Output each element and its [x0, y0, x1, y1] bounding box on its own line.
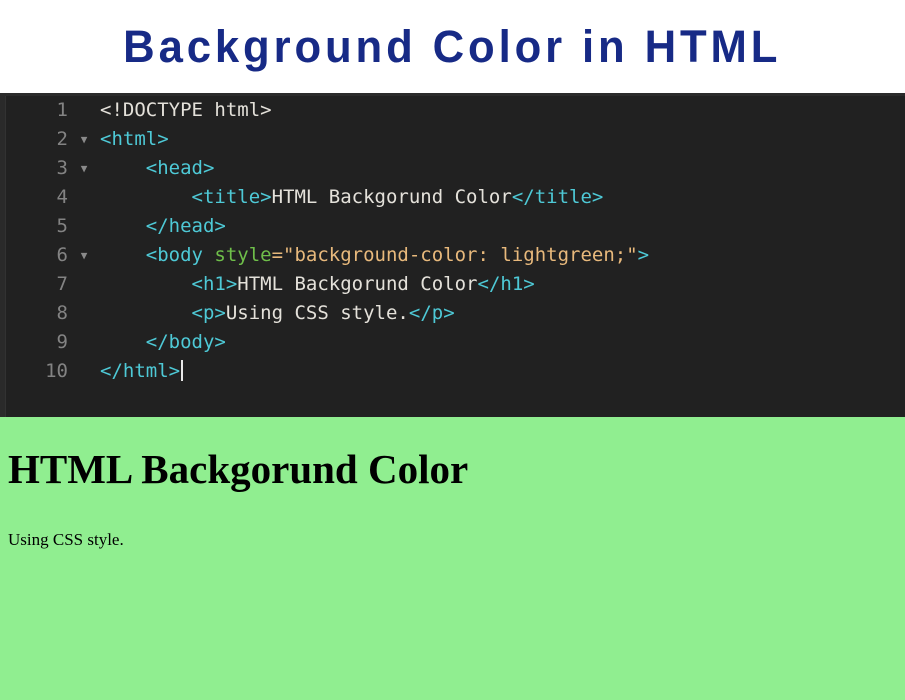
line-number: 10 [0, 357, 68, 386]
code-token-tag: > [638, 244, 649, 266]
code-line-text: <h1>HTML Backgorund Color</h1> [100, 270, 535, 299]
code-line-list[interactable]: 1<!DOCTYPE html>2▼<html>3▼ <head>4 <titl… [0, 96, 905, 386]
code-line-text: <!DOCTYPE html> [100, 96, 272, 125]
rendered-output-pane: HTML Backgorund Color Using CSS style. [0, 417, 905, 700]
line-number: 8 [0, 299, 68, 328]
code-line[interactable]: 9 </body> [0, 328, 905, 357]
code-line[interactable]: 5 </head> [0, 212, 905, 241]
code-token-doctype: <!DOCTYPE html> [100, 99, 272, 121]
code-line-text: <p>Using CSS style.</p> [100, 299, 455, 328]
code-token-tag: </body> [100, 331, 226, 353]
code-line[interactable]: 2▼<html> [0, 125, 905, 154]
page-title-banner: Background Color in HTML [0, 0, 905, 93]
fold-triangle-icon[interactable]: ▼ [76, 241, 92, 270]
code-line[interactable]: 10</html> [0, 357, 905, 386]
output-paragraph: Using CSS style. [0, 490, 905, 548]
code-token-attribute-value: ="background-color: lightgreen;" [272, 244, 638, 266]
code-line-text: </html> [100, 357, 183, 386]
fold-triangle-icon[interactable]: ▼ [76, 154, 92, 183]
line-number: 6 [0, 241, 68, 270]
fold-triangle-icon[interactable]: ▼ [76, 125, 92, 154]
code-token-text: Using CSS style. [226, 302, 409, 324]
code-line[interactable]: 4 <title>HTML Backgorund Color</title> [0, 183, 905, 212]
code-line-text: <head> [100, 154, 214, 183]
code-line-text: </body> [100, 328, 226, 357]
line-number: 4 [0, 183, 68, 212]
line-number: 1 [0, 96, 68, 125]
code-token-attribute-name: style [214, 244, 271, 266]
line-number: 9 [0, 328, 68, 357]
page-title: Background Color in HTML [123, 24, 781, 69]
code-line-text: </head> [100, 212, 226, 241]
code-line-text: <title>HTML Backgorund Color</title> [100, 183, 603, 212]
code-token-tag: </h1> [478, 273, 535, 295]
code-token-text: HTML Backgorund Color [272, 186, 512, 208]
code-line[interactable]: 1<!DOCTYPE html> [0, 96, 905, 125]
code-token-tag: </title> [512, 186, 604, 208]
code-line[interactable]: 8 <p>Using CSS style.</p> [0, 299, 905, 328]
text-cursor [181, 360, 183, 381]
code-token-tag: <head> [100, 157, 214, 179]
code-editor-panel[interactable]: 1<!DOCTYPE html>2▼<html>3▼ <head>4 <titl… [0, 93, 905, 417]
line-number: 3 [0, 154, 68, 183]
code-token-tag: <p> [100, 302, 226, 324]
code-line[interactable]: 3▼ <head> [0, 154, 905, 183]
code-token-tag: </head> [100, 215, 226, 237]
code-token-tag: <title> [100, 186, 272, 208]
code-token-tag: </p> [409, 302, 455, 324]
line-number: 7 [0, 270, 68, 299]
code-line[interactable]: 7 <h1>HTML Backgorund Color</h1> [0, 270, 905, 299]
line-number: 2 [0, 125, 68, 154]
code-token-tag: <html> [100, 128, 169, 150]
code-line-text: <body style="background-color: lightgree… [100, 241, 649, 270]
code-token-text: HTML Backgorund Color [237, 273, 477, 295]
output-heading: HTML Backgorund Color [0, 417, 905, 490]
code-line[interactable]: 6▼ <body style="background-color: lightg… [0, 241, 905, 270]
code-token-tag: </html> [100, 360, 180, 382]
code-token-tag: <h1> [100, 273, 237, 295]
line-number: 5 [0, 212, 68, 241]
code-token-tag: <body [100, 244, 214, 266]
code-line-text: <html> [100, 125, 169, 154]
